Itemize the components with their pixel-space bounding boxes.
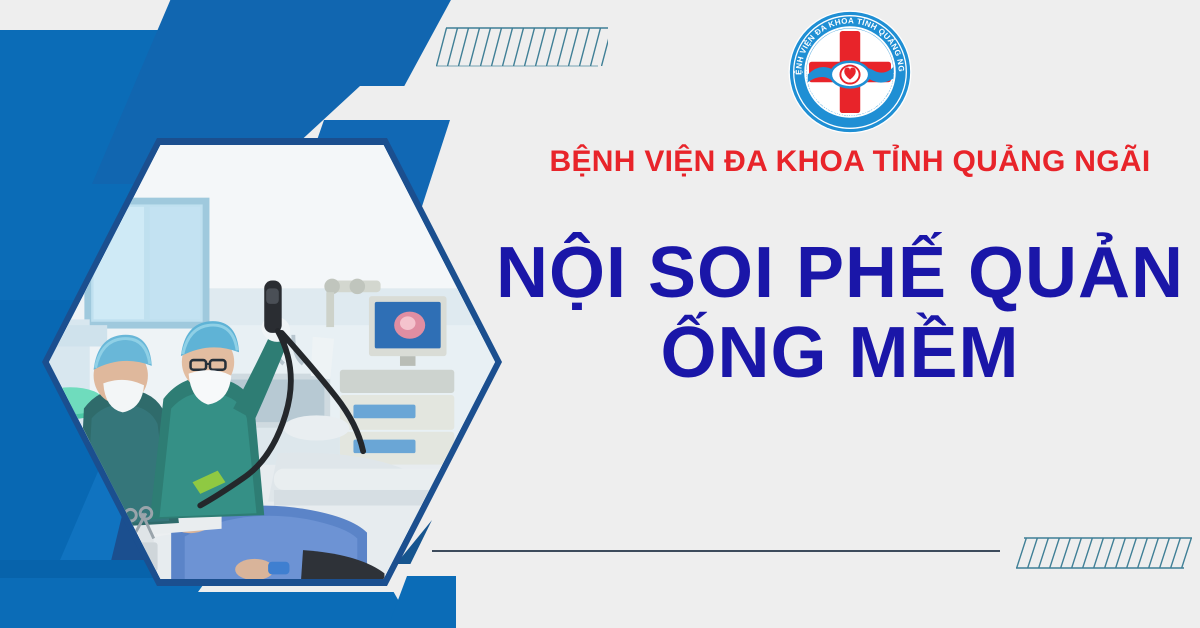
hexagon-photo-frame: Hai nhân viên y tế mặc áo xanh thực hiện…	[42, 138, 502, 586]
poster-canvas: Hai nhân viên y tế mặc áo xanh thực hiện…	[0, 0, 1200, 628]
hospital-logo: BỆNH VIỆN ĐA KHOA TỈNH QUẢNG NGÃI QUANG …	[786, 8, 914, 136]
hospital-name-title: BỆNH VIỆN ĐA KHOA TỈNH QUẢNG NGÃI	[500, 145, 1200, 179]
headline-block: NỘI SOI PHẾ QUẢN ỐNG MỀM	[480, 236, 1200, 390]
horizontal-divider	[432, 550, 1000, 552]
headline-line-2: ỐNG MỀM	[480, 316, 1200, 390]
headline-line-1: NỘI SOI PHẾ QUẢN	[480, 236, 1200, 310]
bronchoscopy-procedure-photo: Hai nhân viên y tế mặc áo xanh thực hiện…	[49, 145, 495, 579]
logo-header-block: BỆNH VIỆN ĐA KHOA TỈNH QUẢNG NGÃI QUANG …	[500, 8, 1200, 179]
hatch-pattern-bottom	[1016, 536, 1192, 570]
